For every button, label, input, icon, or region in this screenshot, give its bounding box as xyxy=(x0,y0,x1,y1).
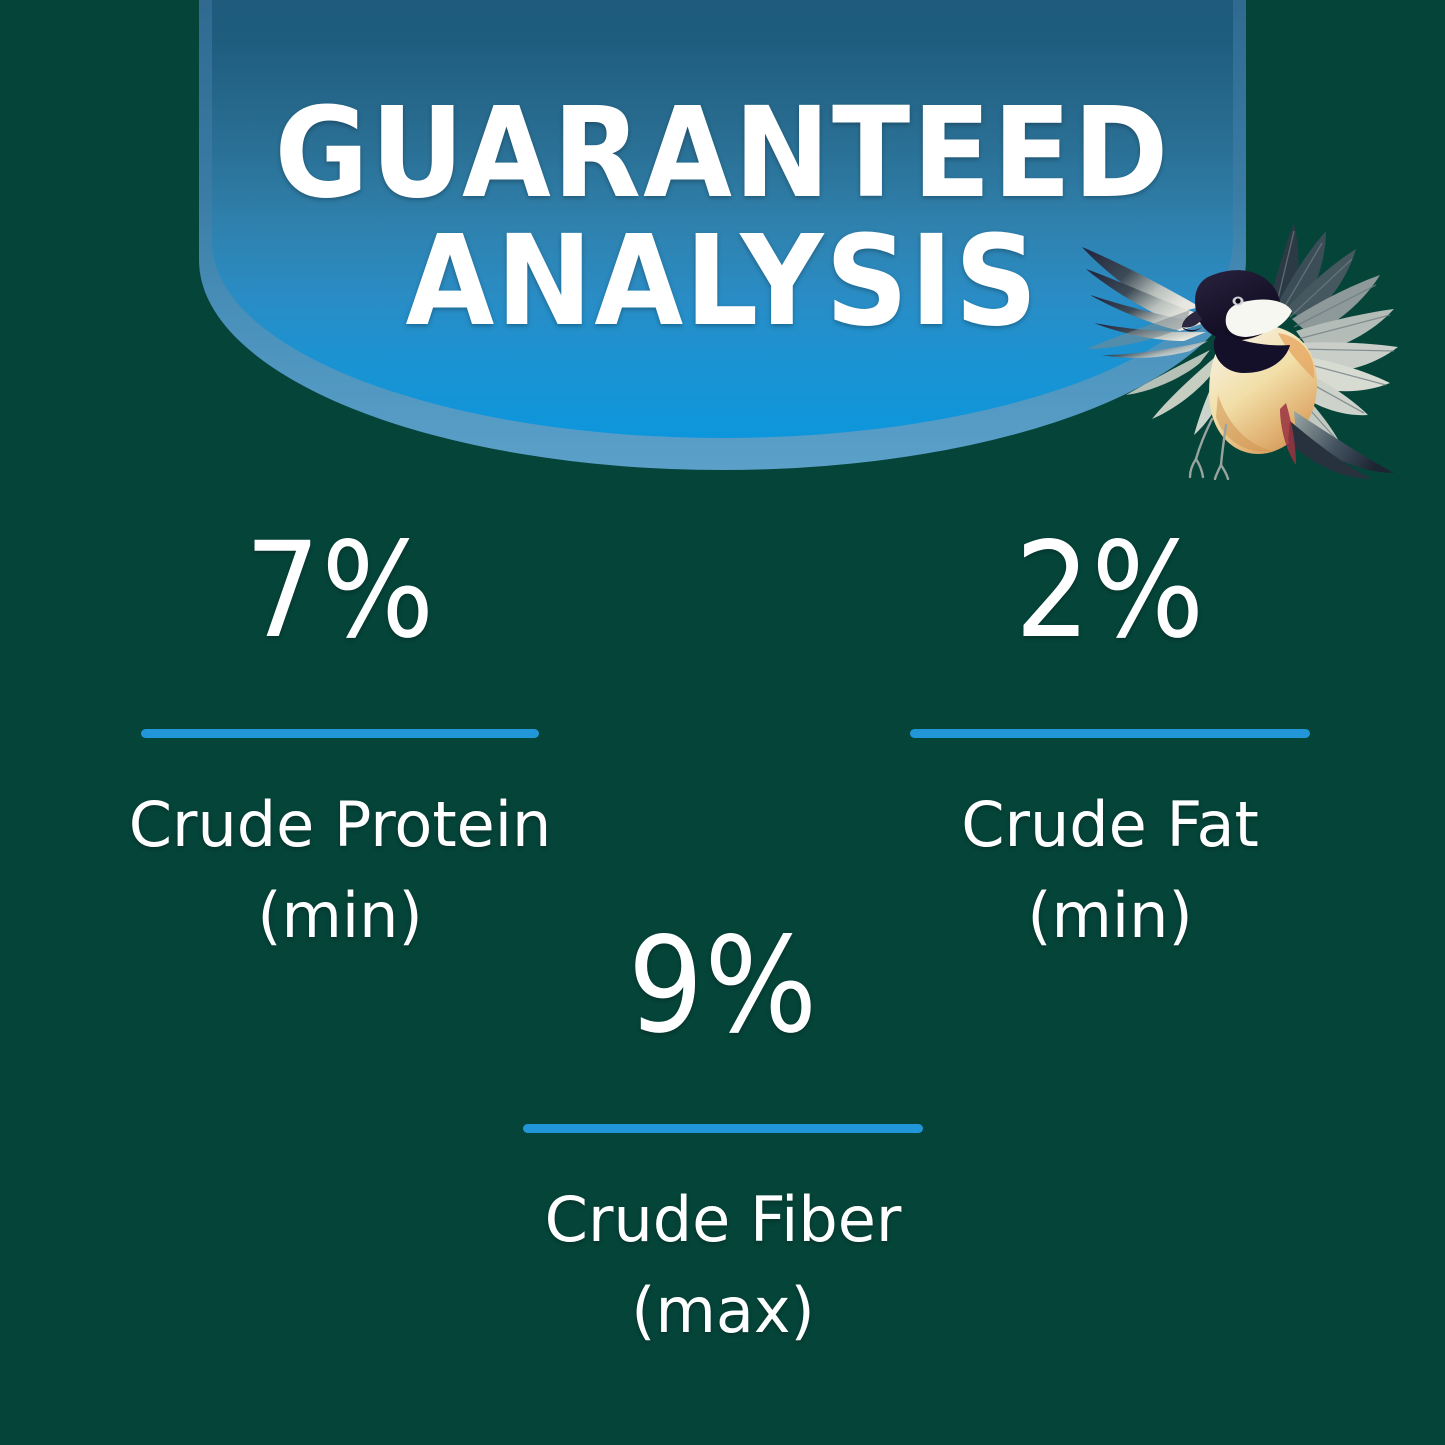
stat-crude-protein: 7% Crude Protein (min) xyxy=(60,525,620,961)
stat-crude-fiber-divider xyxy=(523,1124,923,1133)
stat-crude-fiber-qualifier: (max) xyxy=(443,1266,1003,1356)
stat-crude-protein-value: 7% xyxy=(60,525,620,657)
stat-crude-fat-divider xyxy=(910,729,1310,738)
guaranteed-analysis-panel: GUARANTEED ANALYSIS xyxy=(0,0,1445,1445)
stat-crude-fiber-value: 9% xyxy=(443,920,1003,1052)
stat-crude-fat-value: 2% xyxy=(830,525,1390,657)
header-banner: GUARANTEED ANALYSIS xyxy=(199,0,1246,470)
stat-crude-fat-label: Crude Fat xyxy=(830,778,1390,871)
stat-crude-fiber-label: Crude Fiber xyxy=(443,1173,1003,1266)
page-title-line-1: GUARANTEED xyxy=(202,95,1243,214)
right-wing xyxy=(1270,223,1398,443)
stat-crude-protein-label: Crude Protein xyxy=(60,778,620,871)
stat-crude-protein-divider xyxy=(141,729,539,738)
bird-tail xyxy=(1280,403,1394,479)
stat-crude-fat: 2% Crude Fat (min) xyxy=(830,525,1390,961)
stat-crude-fiber: 9% Crude Fiber (max) xyxy=(443,920,1003,1356)
page-title-line-2: ANALYSIS xyxy=(202,223,1243,342)
banner-inner-shield: GUARANTEED ANALYSIS xyxy=(212,0,1233,438)
